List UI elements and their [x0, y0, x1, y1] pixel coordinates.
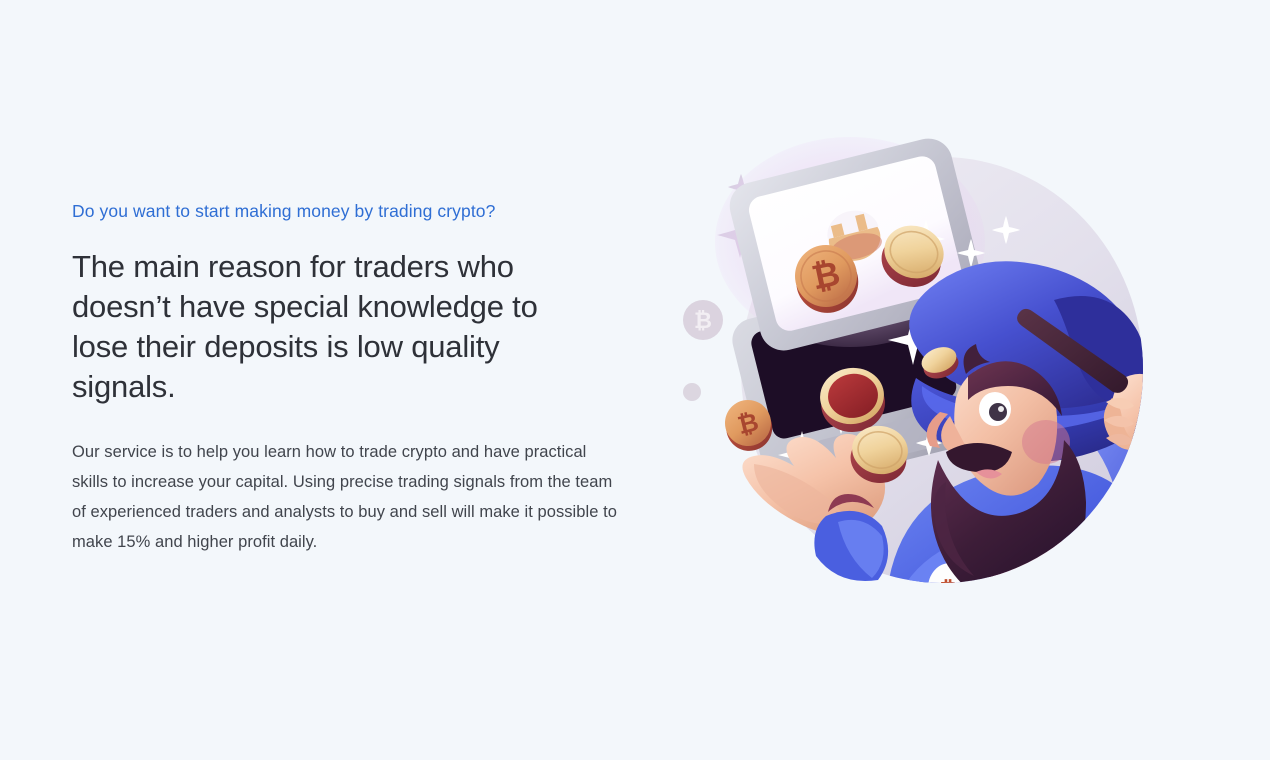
faded-bitcoin-circle: ₿	[683, 300, 723, 340]
hodl-shirt-text: HODL	[990, 586, 1116, 630]
eyebrow-question: Do you want to start making money by tra…	[72, 200, 632, 223]
page-title: The main reason for traders who doesn’t …	[72, 247, 602, 407]
body-paragraph: Our service is to help you learn how to …	[72, 437, 617, 557]
faded-bitcoin-symbol: ₿	[694, 308, 712, 333]
faded-dot	[683, 383, 701, 401]
badge-bitcoin-symbol: ₿	[939, 576, 960, 606]
hero-copy-column: Do you want to start making money by tra…	[72, 200, 632, 557]
page-root: Do you want to start making money by tra…	[0, 0, 1270, 760]
crypto-wizard-illustration: ₿	[650, 130, 1220, 630]
